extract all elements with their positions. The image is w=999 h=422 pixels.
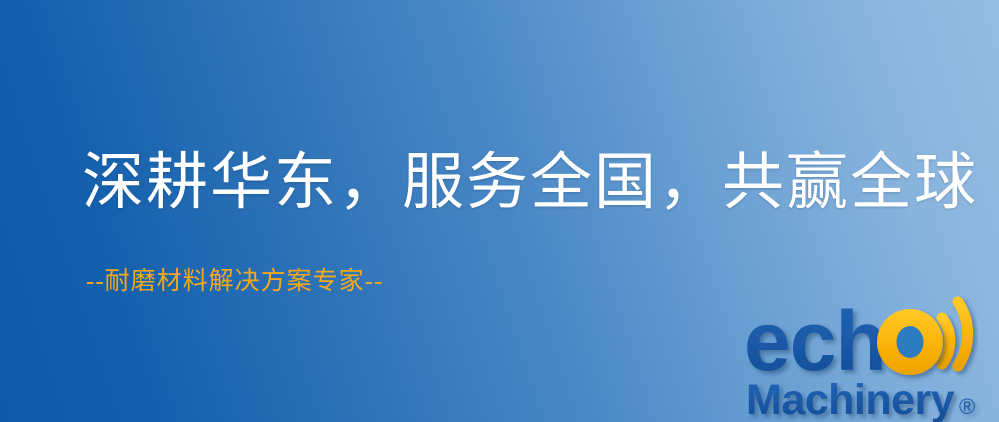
echo-signal-arcs-icon <box>942 302 968 366</box>
logo-wordmark-ech: ech <box>744 294 886 388</box>
logo-wordmark-o <box>877 309 943 375</box>
banner-headline: 深耕华东，服务全国，共赢全球 <box>82 147 978 220</box>
logo-tagline: Machinery ® <box>746 376 975 422</box>
svg-text:Machinery: Machinery <box>746 376 955 422</box>
registered-trademark-icon: ® <box>959 394 975 419</box>
svg-text:ech: ech <box>744 294 886 388</box>
banner-subtitle: --耐磨材料解决方案专家-- <box>86 266 383 297</box>
hero-banner: 深耕华东，服务全国，共赢全球 --耐磨材料解决方案专家-- <box>0 0 999 422</box>
echo-machinery-logo: ech Machinery ® <box>744 296 999 422</box>
